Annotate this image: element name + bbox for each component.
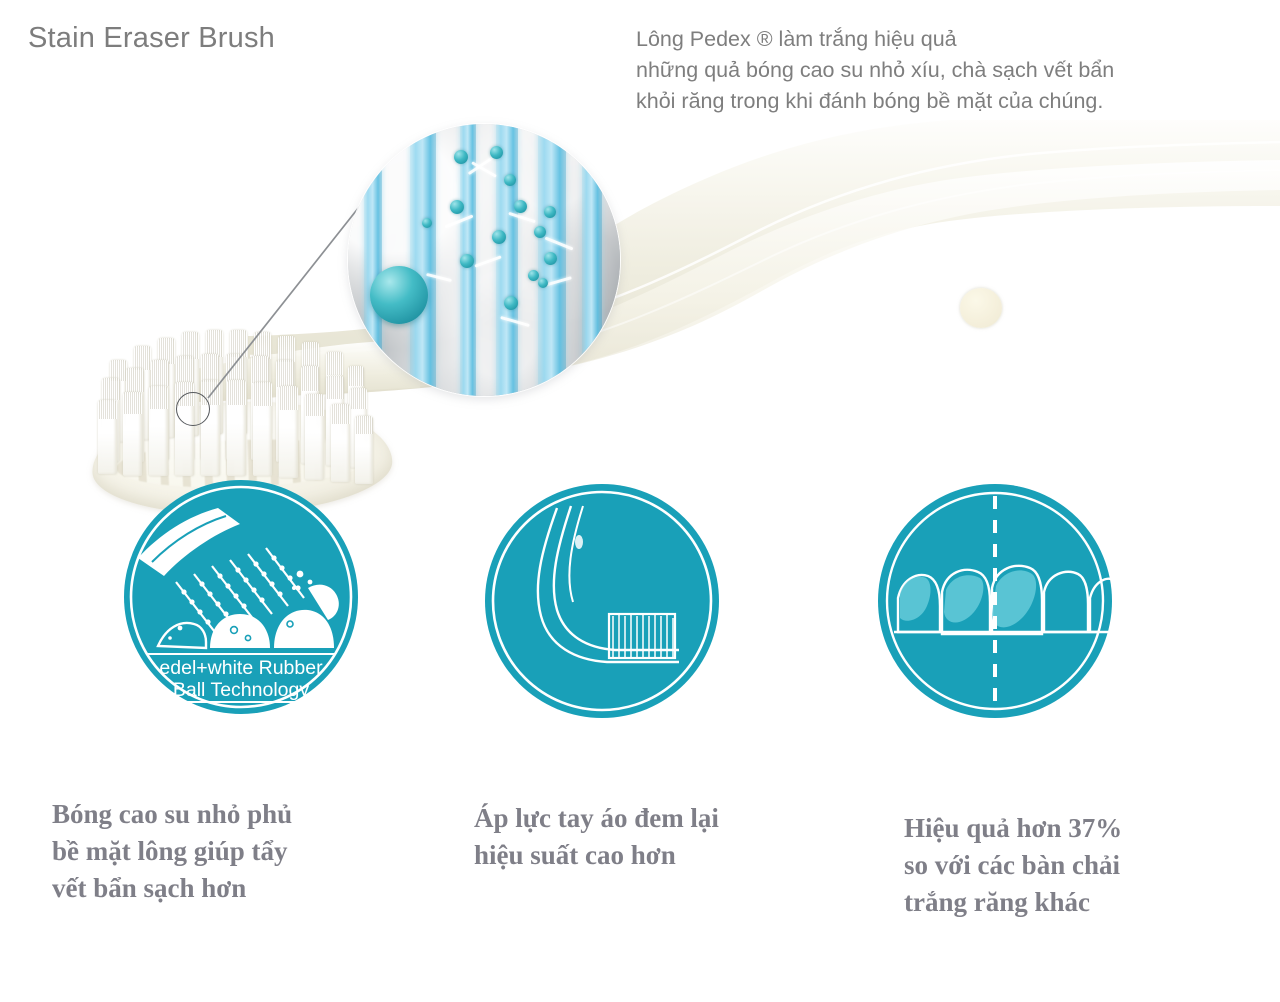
rubber-ball-callout	[370, 266, 428, 324]
whitening-comparison-badge	[876, 482, 1114, 720]
badge-text-line: Ball Technology	[173, 679, 309, 701]
flex-neck-pressure-badge	[483, 482, 721, 720]
toothbrush-illustration	[0, 120, 1280, 450]
caption-line: vết bẩn sạch hơn	[52, 870, 292, 907]
intro-line: khỏi răng trong khi đánh bóng bề mặt của…	[636, 86, 1256, 117]
magnifier-leader-line	[0, 120, 1280, 450]
caption-effectiveness: Hiệu quả hơn 37% so với các bàn chải trắ…	[904, 810, 1122, 921]
magnified-bristle-inset	[348, 124, 620, 396]
feature-badges: edel+white Rubber Ball Technology	[0, 478, 1280, 728]
page-title: Stain Eraser Brush	[28, 22, 275, 55]
intro-line: Lông Pedex ® làm trắng hiệu quả	[636, 24, 1256, 55]
caption-line: Bóng cao su nhỏ phủ	[52, 796, 292, 833]
caption-line: Hiệu quả hơn 37%	[904, 810, 1122, 847]
badge-text-line: edel+white Rubber	[159, 657, 323, 679]
caption-line: so với các bàn chải	[904, 847, 1122, 884]
caption-rubber-balls: Bóng cao su nhỏ phủ bề mặt lông giúp tẩy…	[52, 796, 292, 907]
intro-line: những quả bóng cao su nhỏ xíu, chà sạch …	[636, 55, 1256, 86]
intro-paragraph: Lông Pedex ® làm trắng hiệu quả những qu…	[636, 24, 1256, 117]
caption-pressure-sleeve: Áp lực tay áo đem lại hiệu suất cao hơn	[474, 800, 719, 874]
caption-line: trắng răng khác	[904, 884, 1122, 921]
caption-line: bề mặt lông giúp tẩy	[52, 833, 292, 870]
product-infographic: Stain Eraser Brush Lông Pedex ® làm trắn…	[0, 0, 1280, 1002]
rubber-ball-technology-badge: edel+white Rubber Ball Technology	[122, 478, 360, 716]
caption-line: hiệu suất cao hơn	[474, 837, 719, 874]
caption-line: Áp lực tay áo đem lại	[474, 800, 719, 837]
